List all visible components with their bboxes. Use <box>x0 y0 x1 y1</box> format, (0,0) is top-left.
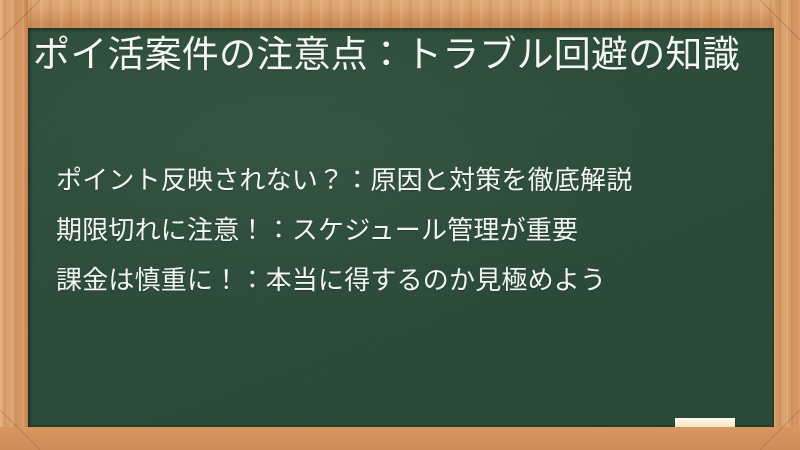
list-item: 期限切れに注意！：スケジュール管理が重要 <box>56 206 756 256</box>
frame-rail-left <box>0 0 28 450</box>
page-title: ポイ活案件の注意点：トラブル回避の知識 <box>33 31 747 78</box>
frame-rail-right <box>774 0 800 450</box>
chalk-stick-icon <box>675 418 735 427</box>
frame-rail-bottom <box>0 427 800 450</box>
list-item: 課金は慎重に！：本当に得するのか見極めよう <box>56 256 756 306</box>
blackboard-content: ポイ活案件の注意点：トラブル回避の知識 ポイント反映されない？：原因と対策を徹底… <box>28 28 774 427</box>
frame-rail-top <box>0 0 800 28</box>
list-item: ポイント反映されない？：原因と対策を徹底解説 <box>56 156 756 206</box>
topic-list: ポイント反映されない？：原因と対策を徹底解説 期限切れに注意！：スケジュール管理… <box>56 156 756 306</box>
blackboard-surface: ポイ活案件の注意点：トラブル回避の知識 ポイント反映されない？：原因と対策を徹底… <box>28 28 774 427</box>
blackboard-slide: ポイ活案件の注意点：トラブル回避の知識 ポイント反映されない？：原因と対策を徹底… <box>0 0 800 450</box>
